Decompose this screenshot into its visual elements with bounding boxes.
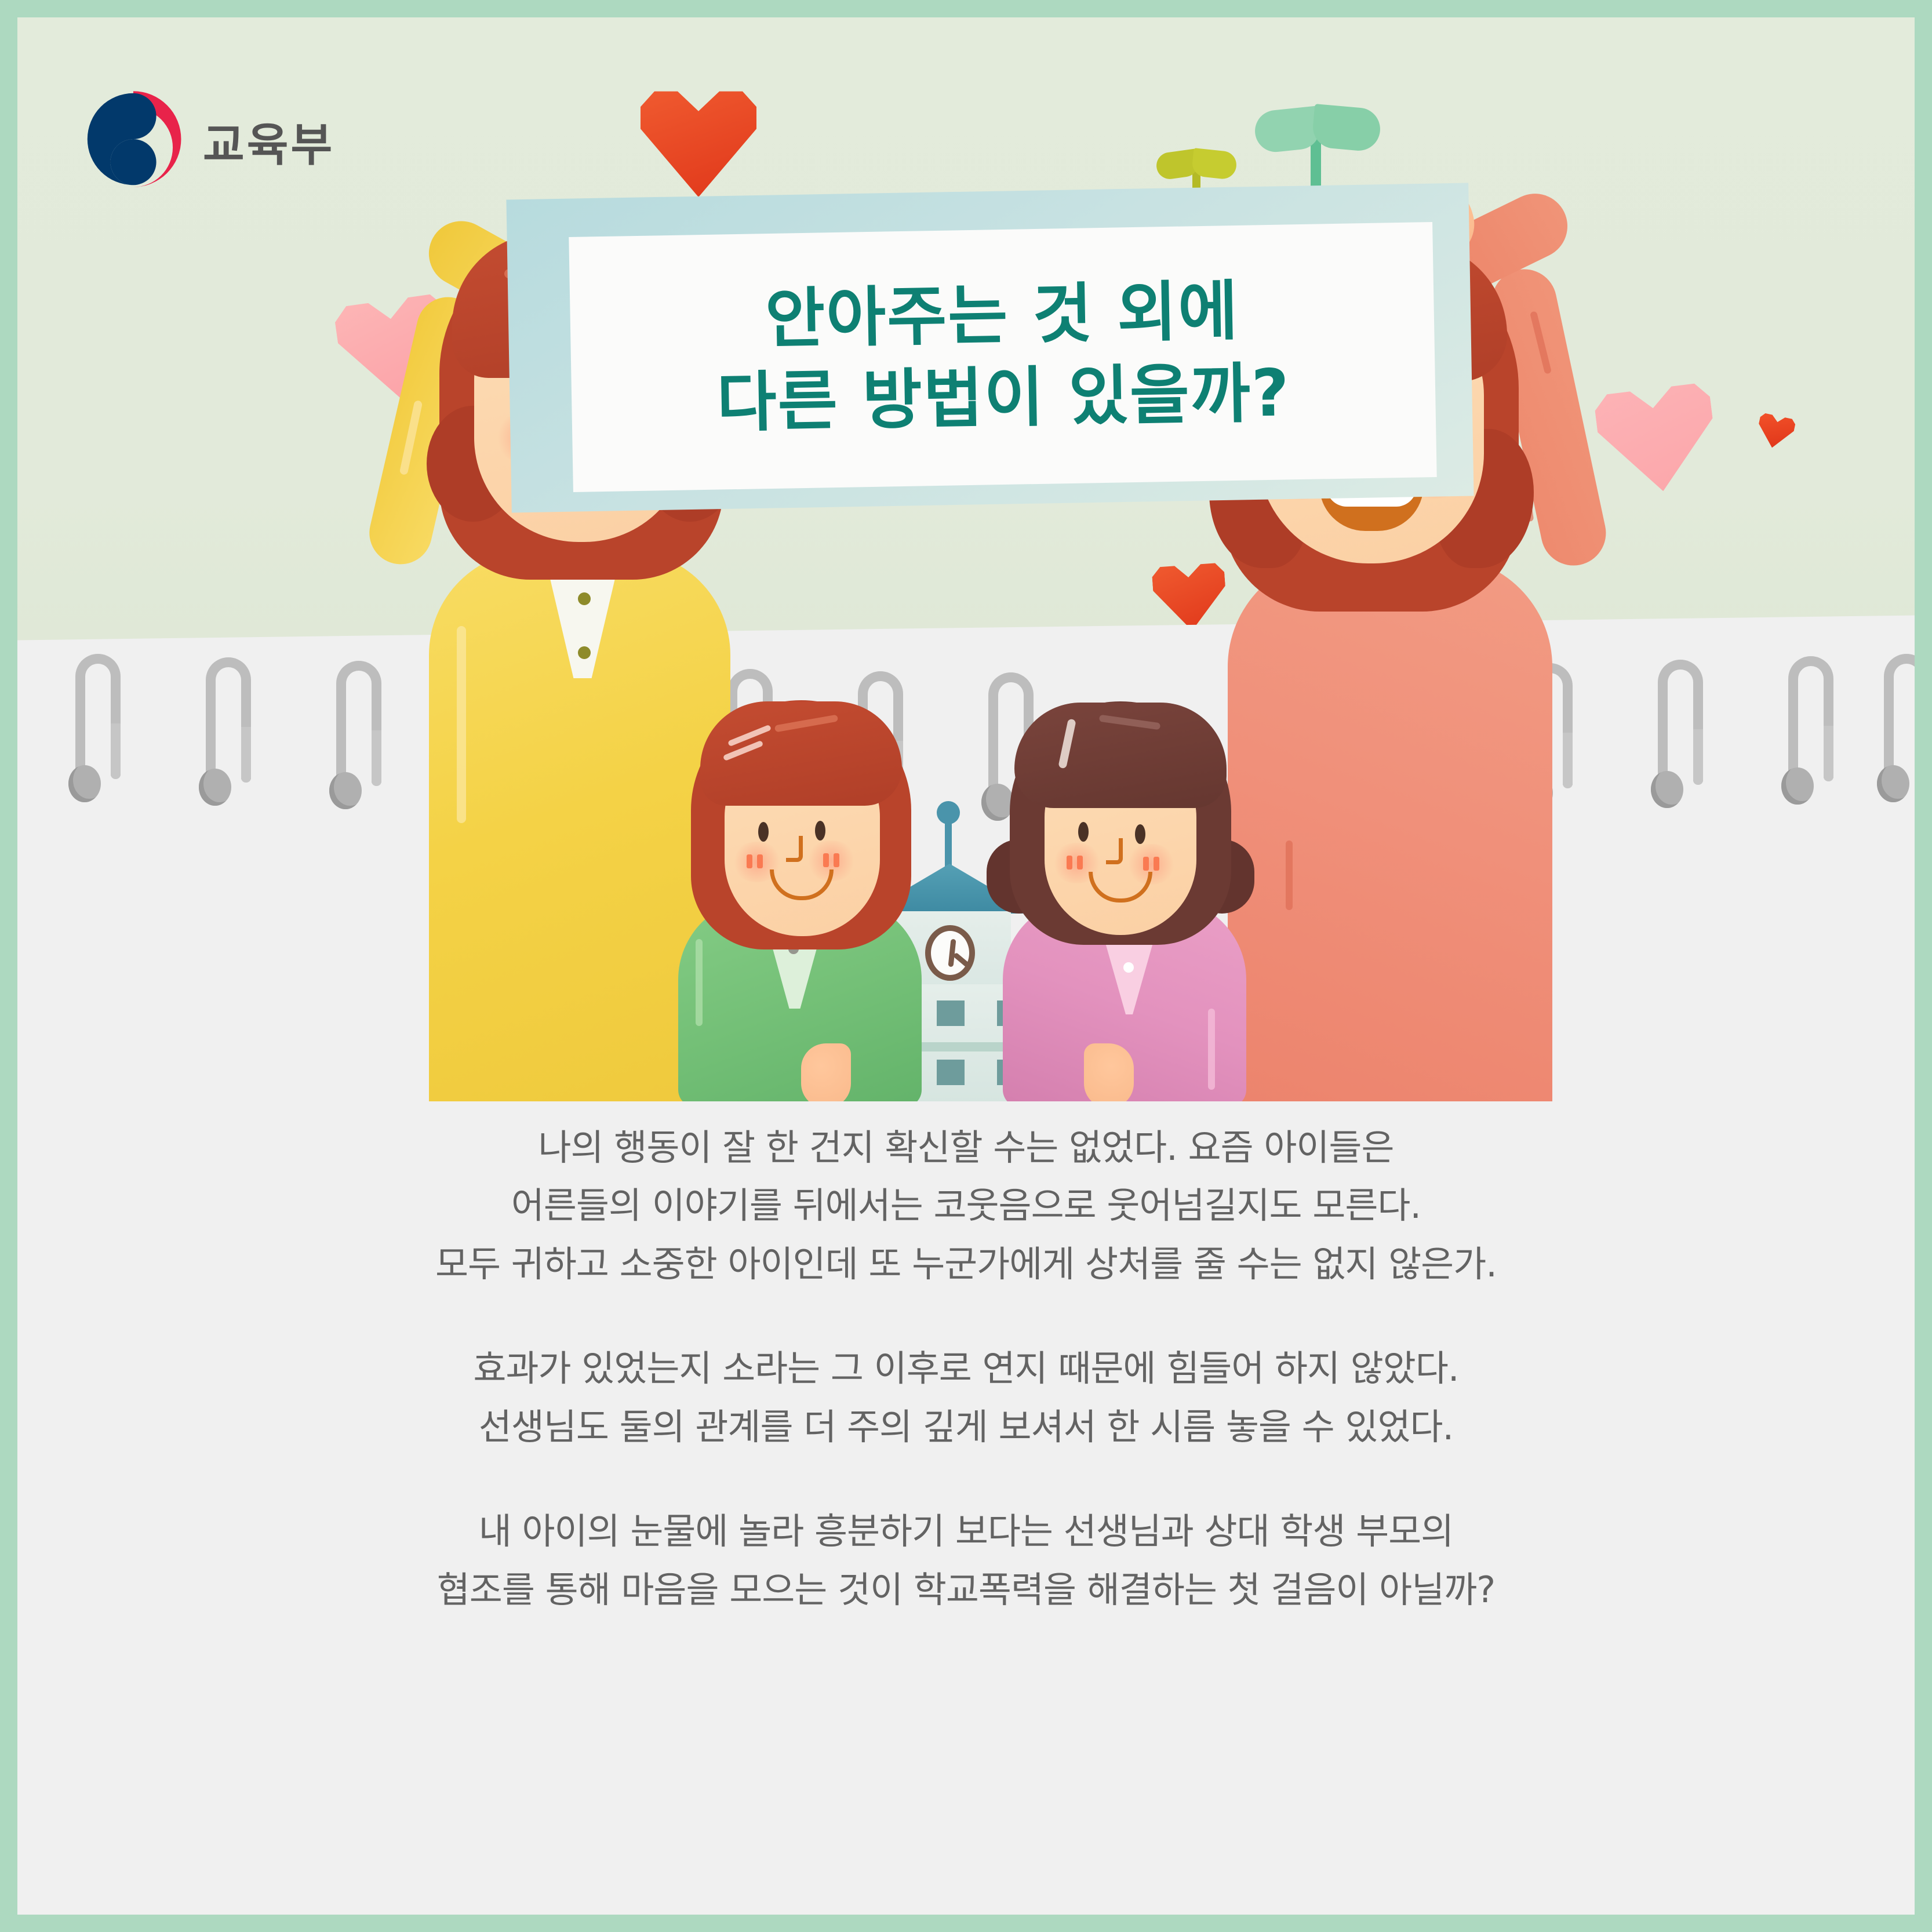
paragraph-3: 내 아이의 눈물에 놀라 흥분하기 보다는 선생님과 상대 학생 부모의 협조를… (17, 1502, 1915, 1619)
paragraph-1: 나의 행동이 잘 한 건지 확신할 수는 없었다. 요즘 아이들은 어른들의 이… (17, 1119, 1915, 1293)
infographic-card: 안아주는 것 외에 다른 방법이 있을까? 교육부 나의 행동이 잘 한 건지 … (17, 17, 1915, 1915)
paragraph-line: 선생님도 둘의 관계를 더 주의 깊게 보셔서 한 시름 놓을 수 있었다. (17, 1398, 1915, 1456)
spiral-ring (1658, 660, 1703, 805)
spiral-ring (206, 657, 251, 802)
heart-red-small-right-icon (1755, 411, 1797, 452)
child-left-nose (786, 836, 803, 862)
left-adult-button (578, 592, 591, 605)
paragraph-line: 나의 행동이 잘 한 건지 확신할 수는 없었다. 요즘 아이들은 (17, 1119, 1915, 1177)
child-left-eye (815, 821, 825, 841)
illustration-scene: 안아주는 것 외에 다른 방법이 있을까? 교육부 (17, 17, 1915, 1101)
child-right-eye (1078, 822, 1089, 842)
ministry-name-label: 교육부 (203, 109, 334, 174)
child-left-hand (801, 1043, 851, 1101)
figure-child-left-boy (661, 684, 962, 1101)
paragraph-line: 모두 귀하고 소중한 아이인데 또 누군가에게 상처를 줄 수는 없지 않은가. (17, 1235, 1915, 1293)
spiral-ring (1788, 656, 1833, 801)
spiral-ring (1884, 654, 1915, 799)
child-right-eye (1135, 824, 1145, 844)
paragraph-line: 내 아이의 눈물에 놀라 흥분하기 보다는 선생님과 상대 학생 부모의 (17, 1502, 1915, 1560)
paragraph-line: 협조를 통해 마음을 모으는 것이 학교폭력을 해결하는 첫 걸음이 아닐까? (17, 1561, 1915, 1619)
title-board-card: 안아주는 것 외에 다른 방법이 있을까? (569, 222, 1436, 492)
ministry-of-education-logo: 교육부 (78, 87, 380, 191)
spiral-ring (75, 654, 121, 799)
paragraph-line: 어른들의 이야기를 뒤에서는 코웃음으로 웃어넘길지도 모른다. (17, 1177, 1915, 1235)
korea-government-taegeuk-symbol-icon (78, 87, 188, 191)
figure-child-right-girl (974, 684, 1275, 1101)
paragraph-2: 효과가 있었는지 소라는 그 이후로 연지 때문에 힘들어 하지 않았다. 선생… (17, 1340, 1915, 1456)
title-line-1: 안아주는 것 외에 (765, 270, 1240, 362)
child-right-nose (1106, 838, 1123, 864)
paragraph-line: 효과가 있었는지 소라는 그 이후로 연지 때문에 힘들어 하지 않았다. (17, 1340, 1915, 1398)
right-adult-torso (1228, 556, 1552, 1101)
child-left-eye (758, 822, 769, 842)
body-text-block: 나의 행동이 잘 한 건지 확신할 수는 없었다. 요즘 아이들은 어른들의 이… (17, 1119, 1915, 1665)
child-right-hand (1084, 1043, 1134, 1101)
left-adult-button (578, 646, 591, 659)
title-line-2: 다른 방법이 있을까? (716, 352, 1291, 445)
